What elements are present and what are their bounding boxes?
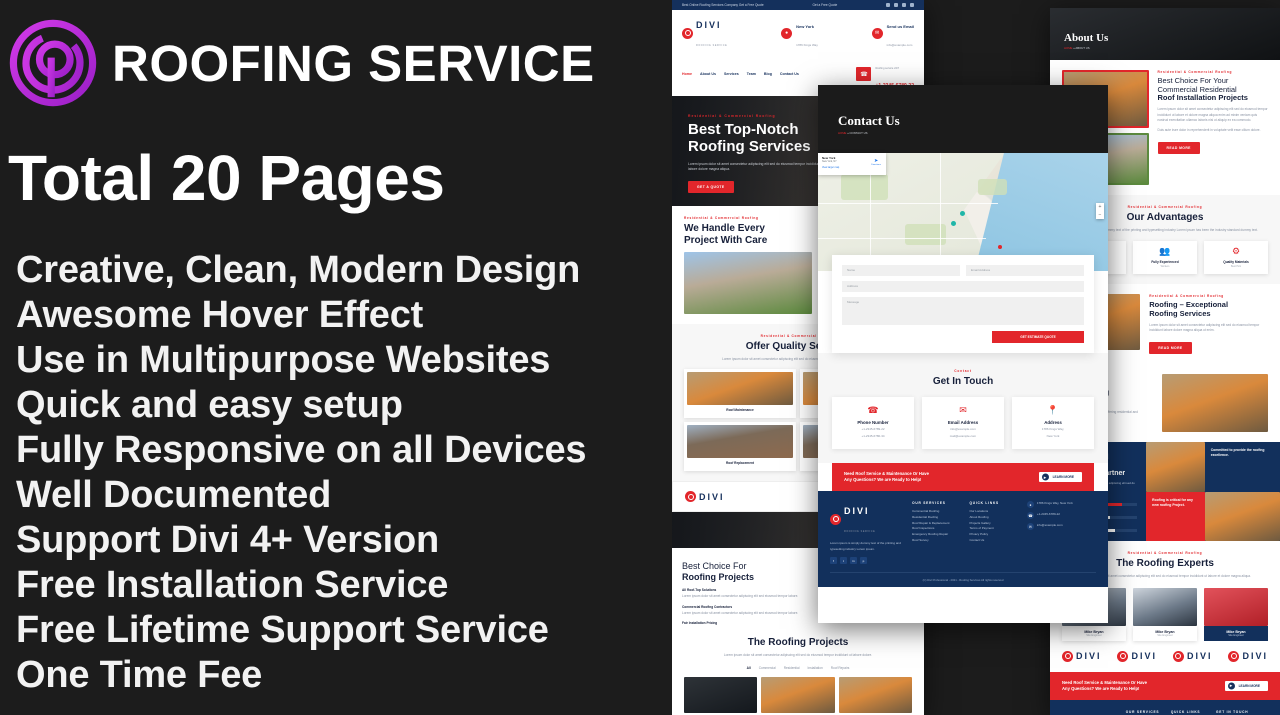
advantage-title: Fully Experienced bbox=[1136, 260, 1194, 264]
home-navbar: DIVI ROOFING SERVICE ● New York 1786 Kin… bbox=[672, 10, 924, 96]
map-zoom-in[interactable]: + bbox=[1096, 203, 1104, 211]
contact-hero-title: Contact Us bbox=[838, 113, 900, 129]
menu-item-home[interactable]: Home bbox=[682, 72, 692, 76]
topbar-quote-link[interactable]: Get a Free Quote bbox=[812, 3, 837, 7]
projects-paragraph: Lorem ipsum dolor sit amet consectetur a… bbox=[684, 653, 912, 659]
feature-item: Use in Multipurpose Websites bbox=[16, 338, 716, 383]
contact-card-value-2: New York bbox=[1016, 434, 1090, 439]
hero-title-line2: Roofing Services bbox=[688, 138, 811, 155]
footer-logo[interactable]: DIVI ROOFING SERVICE bbox=[830, 501, 904, 537]
cta-line2: Any Questions? We are Ready to Help! bbox=[1062, 686, 1139, 691]
leading-photo bbox=[1162, 374, 1268, 432]
location-value: 1786 Kings Way bbox=[796, 43, 818, 47]
feature-item: Fully Responsive on all Devices bbox=[16, 428, 716, 473]
feature-item: Free Installation Service bbox=[16, 563, 716, 608]
client-logo-text: DIVI bbox=[1131, 651, 1157, 661]
brand-title: ROOFING SERVICE bbox=[112, 38, 595, 89]
menu-item-blog[interactable]: Blog bbox=[764, 72, 772, 76]
footer-touch-title: GET IN TOUCH bbox=[1216, 710, 1268, 714]
contact-hero: Contact Us HOME » CONTACT US bbox=[818, 85, 1108, 153]
divi-ring-icon bbox=[1173, 651, 1184, 662]
project-filter[interactable]: Commercial bbox=[759, 666, 776, 670]
footer-service-link[interactable]: Roof Survey bbox=[912, 538, 961, 544]
address-input[interactable]: Address bbox=[842, 281, 1084, 292]
spiral-p-logo-icon bbox=[8, 18, 98, 108]
client-logo: DIVI bbox=[1062, 651, 1102, 662]
footer-copyright: (C) Divi Professional - 2021 - Roofing S… bbox=[830, 572, 1096, 582]
advantage-card[interactable]: 👥 Fully Experienced Workers bbox=[1133, 241, 1197, 274]
projects-title: The Roofing Projects bbox=[684, 637, 912, 649]
breadcrumb-separator: » bbox=[847, 131, 849, 135]
menu-item-services[interactable]: Services bbox=[724, 72, 739, 76]
care-title-line2: Project With Care bbox=[684, 235, 767, 246]
client-logo: DIVI bbox=[1173, 651, 1213, 662]
mail-icon: ✉ bbox=[872, 28, 883, 39]
map-zoom-controls[interactable]: + − bbox=[1096, 203, 1104, 219]
message-textarea[interactable]: Message bbox=[842, 297, 1084, 325]
project-filter[interactable]: All bbox=[747, 666, 751, 670]
contact-card-value-2: +1-2345-6780-34 bbox=[836, 434, 910, 439]
footer-touch-col: ● 1786 Kings Way, New York ☎ +1-2345-678… bbox=[1027, 501, 1096, 564]
pinterest-icon[interactable]: p bbox=[860, 557, 867, 564]
footer-address: 1786 Kings Way, New York bbox=[1037, 501, 1073, 505]
footer-links-title: QUICK LINKS bbox=[1171, 710, 1208, 714]
brand-row: ROOFING SERVICE bbox=[8, 18, 595, 108]
project-thumb[interactable] bbox=[761, 677, 834, 713]
map-zoom-out[interactable]: − bbox=[1096, 211, 1104, 219]
contact-card-email[interactable]: ✉ Email Address info@example.com mail@ex… bbox=[922, 397, 1004, 449]
contact-footer: DIVI ROOFING SERVICE Lorem ipsum is simp… bbox=[818, 491, 1108, 587]
partner-photo-top bbox=[1146, 442, 1205, 492]
feature-item: Support Divi 4+ Version bbox=[16, 518, 716, 563]
email-value: info@example.com bbox=[887, 43, 913, 47]
twitter-icon[interactable]: t bbox=[840, 557, 847, 564]
cta-line1: Need Roof Service & Maintenance Or Have bbox=[844, 471, 929, 476]
footer-social[interactable]: f t in p bbox=[830, 557, 904, 564]
advantage-title: Quality Materials bbox=[1207, 260, 1265, 264]
cta-line2: Any Questions? We are Ready to Help! bbox=[844, 477, 921, 482]
screenshot-canvas: Best Online Roofing Services Company Get… bbox=[0, 0, 1280, 715]
cta-line1: Need Roof Service & Maintenance Or Have bbox=[1062, 680, 1147, 685]
footer-email[interactable]: info@example.com bbox=[1037, 523, 1063, 527]
hero-quote-button[interactable]: GET A QUOTE bbox=[688, 181, 734, 193]
submit-button[interactable]: GET ESTIMATE QUOTE bbox=[992, 331, 1084, 343]
about-hero: About Us HOME » ABOUT US bbox=[1050, 8, 1280, 60]
footer-about-text: Lorem ipsum is simply dummy text of the … bbox=[830, 541, 904, 552]
divi-ring-icon bbox=[830, 514, 841, 525]
footer-services-title: OUR SERVICES bbox=[1126, 710, 1163, 714]
project-thumb[interactable] bbox=[839, 677, 912, 713]
header-email: ✉ Send us Email info@example.com bbox=[872, 15, 914, 51]
mockup-contact-page: Contact Us HOME » CONTACT US New Y bbox=[818, 85, 1108, 623]
team-icon: 👥 bbox=[1136, 247, 1194, 256]
topbar-social-icons[interactable] bbox=[886, 3, 914, 7]
project-filter[interactable]: Residential bbox=[784, 666, 800, 670]
client-logo: DIVI bbox=[1228, 651, 1268, 662]
promo-panel: ROOFING SERVICE Total 20 Pages Creative,… bbox=[0, 0, 672, 715]
intro-paragraph-2: Duis aute irure dolor in reprehenderit i… bbox=[1158, 128, 1268, 134]
divi-ring-icon bbox=[1117, 651, 1128, 662]
map-info-card[interactable]: New York New York, NY View larger map ➤ … bbox=[818, 153, 886, 175]
projects-gallery bbox=[684, 677, 912, 715]
care-title-line1: We Handle Every bbox=[684, 223, 765, 234]
footer-touch-col: GET IN TOUCH ● 1786 Kings Way, New York … bbox=[1216, 710, 1268, 715]
client-logo-strip: DIVI DIVI DIVI DIVI bbox=[1062, 651, 1268, 662]
feature-item: Awesome Hover Effect bbox=[16, 293, 716, 338]
phone-icon: ☎ bbox=[836, 406, 910, 415]
linkedin-icon[interactable]: in bbox=[850, 557, 857, 564]
footer-quick-link[interactable]: Contact Us bbox=[969, 538, 1018, 544]
footer-links-col: QUICK LINKS Our Locations About Roofing … bbox=[969, 501, 1018, 564]
contact-card-title: Email Address bbox=[926, 420, 1000, 425]
topbar-promo-text: Best Online Roofing Services Company Get… bbox=[682, 3, 764, 7]
hero-title-line1: Best Top-Notch bbox=[688, 121, 799, 138]
divi-ring-icon bbox=[682, 28, 693, 39]
intro-read-more-button[interactable]: READ MORE bbox=[1158, 142, 1200, 154]
intro-paragraph: Lorem ipsum dolor sit amet consectetur a… bbox=[1158, 107, 1268, 124]
hero-paragraph: Lorem ipsum dolor sit amet consectetur a… bbox=[688, 162, 824, 174]
footer-services-col: OUR SERVICES Commercial Roofing Resident… bbox=[1126, 710, 1163, 715]
breadcrumb-home[interactable]: HOME bbox=[838, 131, 846, 135]
footer-links-col: QUICK LINKS Our Locations About Roofing … bbox=[1171, 710, 1208, 715]
contact-card-address[interactable]: 📍 Address 1786 Kings Way, New York bbox=[1012, 397, 1094, 449]
pin-icon: ● bbox=[781, 28, 792, 39]
divi-ring-icon bbox=[1062, 651, 1073, 662]
partner-photo-bottom bbox=[1205, 492, 1280, 542]
client-logo-text: DIVI bbox=[1076, 651, 1102, 661]
divi-wordmark: DIVI bbox=[696, 20, 722, 30]
about-hero-title: About Us bbox=[1064, 32, 1108, 44]
partner-red-box: Roofing is critical for any new roofing … bbox=[1146, 492, 1205, 542]
feature-item: Free Lifetime Support Service bbox=[16, 608, 716, 653]
menu-item-contact[interactable]: Contact Us bbox=[780, 72, 799, 76]
member-role: Site Engineer bbox=[1208, 634, 1264, 637]
feature-item: One Time Fee bbox=[16, 653, 716, 698]
exceptional-paragraph: Lorem ipsum dolor sit amet consectetur a… bbox=[1149, 323, 1268, 335]
home-topbar: Best Online Roofing Services Company Get… bbox=[672, 0, 924, 10]
project-filter[interactable]: Installation bbox=[808, 666, 823, 670]
breadcrumb-current: CONTACT US bbox=[850, 131, 868, 135]
footer-services-title: OUR SERVICES bbox=[912, 501, 961, 505]
name-input[interactable]: Name bbox=[842, 265, 960, 276]
footer-about-col: DIVI ROOFING SERVICE Lorem ipsum is simp… bbox=[830, 501, 904, 564]
facebook-icon[interactable]: f bbox=[830, 557, 837, 564]
team-member-card[interactable]: Mike Bryan Site Engineer bbox=[1204, 588, 1268, 641]
menu-item-team[interactable]: Team bbox=[747, 72, 756, 76]
contact-card-title: Address bbox=[1016, 420, 1090, 425]
advantage-sub: Best Pick bbox=[1207, 265, 1265, 268]
pin-icon: 📍 bbox=[1016, 406, 1090, 415]
team-member-card[interactable]: Mike Bryan Site Engineer bbox=[1133, 588, 1197, 641]
breadcrumb-current: ABOUT US bbox=[1075, 46, 1089, 50]
header-location: ● New York 1786 Kings Way bbox=[781, 15, 818, 51]
exceptional-read-more-button[interactable]: READ MORE bbox=[1149, 342, 1191, 354]
cta-learn-more-button[interactable]: LEARN MORE bbox=[1225, 681, 1268, 691]
feature-item: Quick and easy setup bbox=[16, 383, 716, 428]
gear-icon: ⚙ bbox=[1207, 247, 1265, 256]
about-footer: DIVI ROOFING SERVICE Lorem ipsum is simp… bbox=[1050, 700, 1280, 715]
client-logo-text: DIVI bbox=[1187, 651, 1213, 661]
git-title: Get In Touch bbox=[832, 376, 1094, 387]
project-filter[interactable]: Roof Repairs bbox=[831, 666, 850, 670]
get-in-touch-section: Contact Get In Touch ☎ Phone Number +1-2… bbox=[818, 353, 1108, 463]
feature-list: Creative, Clean, Modern Design Awesome H… bbox=[16, 248, 716, 698]
git-kicker: Contact bbox=[832, 369, 1094, 373]
client-logo: DIVI bbox=[1117, 651, 1157, 662]
partner-navy-box: Committed to provide the roofing excelle… bbox=[1205, 442, 1280, 492]
intro-kicker: Residential & Commercial Roofing bbox=[1158, 70, 1268, 74]
mail-icon: ✉ bbox=[1027, 523, 1034, 530]
contact-cta-band: Need Roof Service & Maintenance Or Have … bbox=[832, 463, 1094, 492]
contact-card-value-1: +1-2345-6789-22 bbox=[836, 427, 910, 432]
footer-wordmark: DIVI bbox=[844, 506, 870, 516]
contact-form: Name Email Address Address Message GET E… bbox=[832, 255, 1094, 353]
pin-icon: ● bbox=[1027, 501, 1034, 508]
advantage-card[interactable]: ⚙ Quality Materials Best Pick bbox=[1204, 241, 1268, 274]
feature-item: Well Documented bbox=[16, 473, 716, 518]
footer-logo[interactable]: DIVI ROOFING SERVICE bbox=[1062, 710, 1118, 715]
email-label: Send us Email bbox=[887, 24, 914, 29]
projects-filters[interactable]: All Commercial Residential Installation … bbox=[684, 666, 912, 670]
divi-ring-icon bbox=[1228, 651, 1239, 662]
main-menu[interactable]: Home About Us Services Team Blog Contact… bbox=[682, 72, 799, 76]
map-directions-button[interactable]: ➤ Directions bbox=[871, 158, 881, 166]
phone-label: Roofing service 24/7 bbox=[875, 67, 899, 70]
footer-tagline: ROOFING SERVICE bbox=[844, 530, 875, 533]
footer-phone[interactable]: +1-2345-6789-22 bbox=[1037, 512, 1060, 516]
map-larger-link[interactable]: View larger map bbox=[822, 166, 882, 169]
contact-breadcrumb[interactable]: HOME » CONTACT US bbox=[838, 131, 900, 135]
footer-about-col: DIVI ROOFING SERVICE Lorem ipsum is simp… bbox=[1062, 710, 1118, 715]
footer-links-title: QUICK LINKS bbox=[969, 501, 1018, 505]
page-headline: Total 20 Pages bbox=[8, 145, 444, 212]
divi-logo[interactable]: DIVI ROOFING SERVICE bbox=[682, 15, 727, 51]
advantage-sub: Workers bbox=[1136, 265, 1194, 268]
contact-map[interactable]: New York New York, NY View larger map ➤ … bbox=[818, 153, 1108, 271]
location-label: New York bbox=[796, 24, 814, 29]
contact-card-value-1: info@example.com bbox=[926, 427, 1000, 432]
menu-item-about[interactable]: About Us bbox=[700, 72, 716, 76]
phone-icon: ☎ bbox=[1027, 512, 1034, 519]
divi-tagline: ROOFING SERVICE bbox=[696, 44, 727, 47]
exceptional-kicker: Residential & Commercial Roofing bbox=[1149, 294, 1268, 298]
contact-card-title: Phone Number bbox=[836, 420, 910, 425]
intro-title-line3: Roof Installation Projects bbox=[1158, 93, 1248, 102]
feature-item: Creative, Clean, Modern Design bbox=[16, 248, 716, 293]
exceptional-title-line2: Roofing Services bbox=[1149, 309, 1210, 318]
client-logo-text: DIVI bbox=[1242, 651, 1268, 661]
member-role: Site Engineer bbox=[1066, 634, 1122, 637]
contact-card-value-2: mail@example.com bbox=[926, 434, 1000, 439]
breadcrumb-home[interactable]: HOME bbox=[1064, 46, 1072, 50]
contact-card-value-1: 1786 Kings Way, bbox=[1016, 427, 1090, 432]
about-cta-band: Need Roof Service & Maintenance Or Have … bbox=[1050, 672, 1280, 701]
member-role: Site Engineer bbox=[1137, 634, 1193, 637]
cta-learn-more-button[interactable]: LEARN MORE bbox=[1039, 472, 1082, 482]
email-input[interactable]: Email Address bbox=[966, 265, 1084, 276]
contact-card-phone[interactable]: ☎ Phone Number +1-2345-6789-22 +1-2345-6… bbox=[832, 397, 914, 449]
about-breadcrumb[interactable]: HOME » ABOUT US bbox=[1064, 46, 1108, 50]
footer-services-col: OUR SERVICES Commercial Roofing Resident… bbox=[912, 501, 961, 564]
phone-icon: ☎ bbox=[856, 67, 871, 81]
mail-icon: ✉ bbox=[926, 406, 1000, 415]
